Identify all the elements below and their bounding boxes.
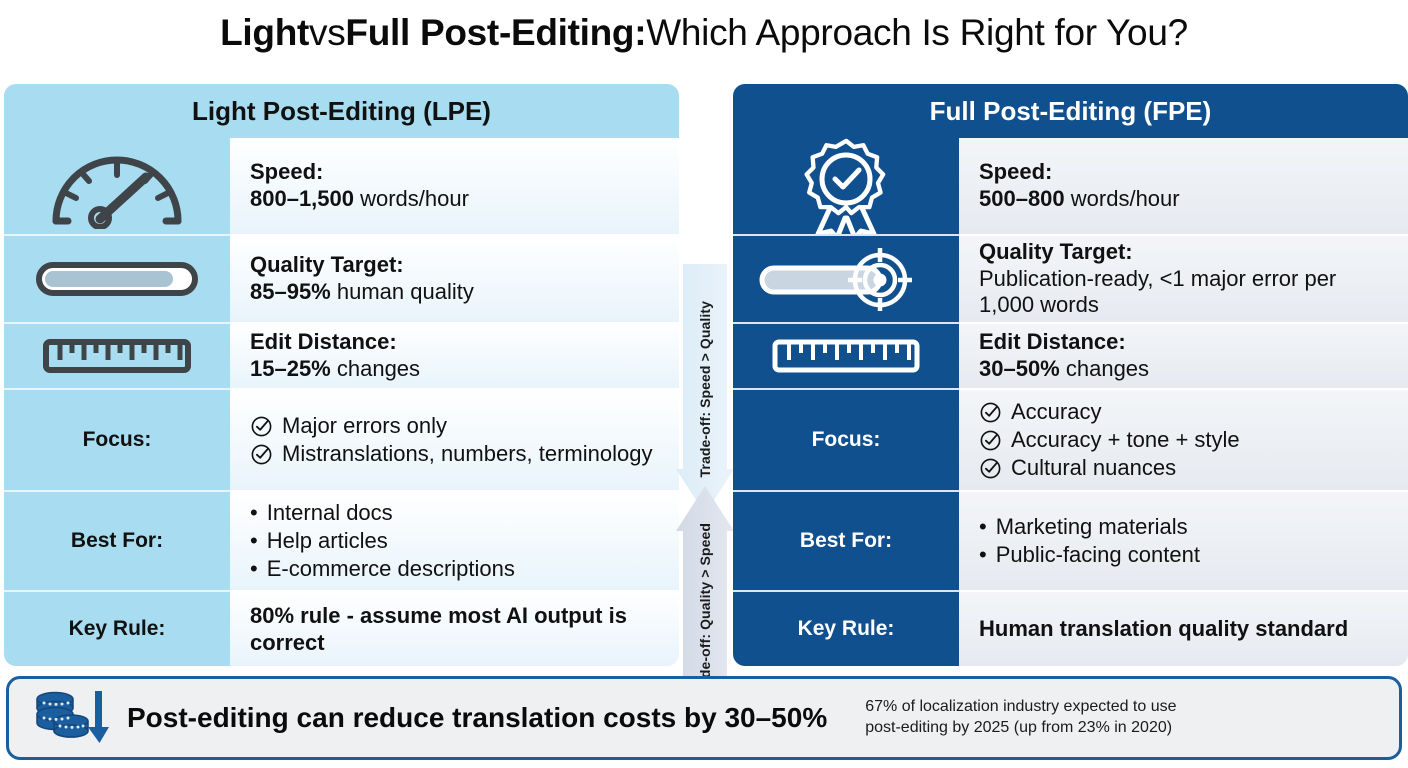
- speed-value: 800–1,500 words/hour: [250, 186, 665, 213]
- list-item-text: Accuracy + tone + style: [1011, 426, 1240, 454]
- check-circle-icon: [250, 443, 273, 466]
- list-item: Mistranslations, numbers, terminology: [250, 440, 665, 468]
- cell-speed-body: Speed: 800–1,500 words/hour: [230, 138, 679, 234]
- list-item: •Marketing materials: [979, 513, 1394, 541]
- quality-value: 85–95% human quality: [250, 279, 665, 306]
- edit-value: 30–50% changes: [979, 356, 1394, 383]
- list-item-text: Mistranslations, numbers, terminology: [282, 440, 652, 468]
- panel-right-header: Full Post-Editing (FPE): [733, 84, 1408, 138]
- quality-value-rest: Publication-ready, <1 major error per 1,…: [979, 266, 1336, 318]
- row-best-for: Best For: •Internal docs •Help articles …: [4, 490, 679, 590]
- best-for-list: •Marketing materials •Public-facing cont…: [979, 513, 1394, 569]
- key-rule-text: Human translation quality standard: [979, 615, 1394, 643]
- quality-value: Publication-ready, <1 major error per 1,…: [979, 266, 1394, 320]
- check-circle-icon: [979, 401, 1002, 424]
- cell-edit-body: Edit Distance: 30–50% changes: [959, 322, 1408, 388]
- tradeoff-arrow-speed-over-quality: Trade-off: Speed > Quality: [676, 264, 734, 514]
- edit-value-strong: 30–50%: [979, 356, 1060, 381]
- quality-value-strong: 85–95%: [250, 279, 331, 304]
- cell-best-for-body: •Internal docs •Help articles •E-commerc…: [230, 490, 679, 590]
- bullet-dot-icon: •: [250, 527, 258, 555]
- list-item: Cultural nuances: [979, 454, 1394, 482]
- cell-focus-body: Accuracy Accuracy + tone + style: [959, 388, 1408, 490]
- list-item: •Public-facing content: [979, 541, 1394, 569]
- cell-edit-body: Edit Distance: 15–25% changes: [230, 322, 679, 388]
- cell-quality-body: Quality Target: Publication-ready, <1 ma…: [959, 234, 1408, 322]
- list-item-text: Cultural nuances: [1011, 454, 1176, 482]
- list-item-text: Public-facing content: [996, 541, 1200, 569]
- list-item: Major errors only: [250, 412, 665, 440]
- cell-quality-body: Quality Target: 85–95% human quality: [230, 234, 679, 322]
- edit-key: Edit Distance:: [250, 329, 665, 356]
- best-for-label: Best For:: [4, 490, 230, 590]
- row-key-rule: Key Rule: 80% rule - assume most AI outp…: [4, 590, 679, 666]
- panel-light-post-editing: Light Post-Editing (LPE): [4, 84, 679, 666]
- quality-key: Quality Target:: [250, 252, 665, 279]
- focus-label: Focus:: [733, 388, 959, 490]
- list-item-text: Internal docs: [267, 499, 393, 527]
- speed-key: Speed:: [250, 159, 665, 186]
- row-quality-target: Quality Target: 85–95% human quality: [4, 234, 679, 322]
- list-item-text: Marketing materials: [996, 513, 1188, 541]
- focus-list: Accuracy Accuracy + tone + style: [979, 398, 1394, 482]
- list-item-text: Help articles: [267, 527, 388, 555]
- check-circle-icon: [250, 415, 273, 438]
- award-badge-icon: [733, 138, 959, 234]
- speed-value: 500–800 words/hour: [979, 186, 1394, 213]
- bottom-stat-banner: Post-editing can reduce translation cost…: [6, 676, 1402, 760]
- edit-value: 15–25% changes: [250, 356, 665, 383]
- quality-value-rest: human quality: [331, 279, 474, 304]
- key-rule-text: 80% rule - assume most AI output is corr…: [250, 602, 665, 657]
- check-circle-icon: [979, 457, 1002, 480]
- speed-value-strong: 500–800: [979, 186, 1065, 211]
- bullet-dot-icon: •: [979, 541, 987, 569]
- banner-main-stat: Post-editing can reduce translation cost…: [127, 702, 827, 734]
- list-item: Accuracy: [979, 398, 1394, 426]
- speed-value-rest: words/hour: [354, 186, 469, 211]
- ruler-icon: [4, 322, 230, 388]
- list-item: •E-commerce descriptions: [250, 555, 665, 583]
- comparison-area: Light Post-Editing (LPE): [0, 84, 1408, 668]
- progress-target-icon: [733, 234, 959, 322]
- row-edit-distance: Edit Distance: 30–50% changes: [733, 322, 1408, 388]
- edit-value-rest: changes: [1060, 356, 1149, 381]
- list-item: •Help articles: [250, 527, 665, 555]
- row-speed: Speed: 800–1,500 words/hour: [4, 138, 679, 234]
- row-focus: Focus: Accuracy Acc: [733, 388, 1408, 490]
- list-item-text: Accuracy: [1011, 398, 1101, 426]
- bullet-dot-icon: •: [250, 499, 258, 527]
- progress-bar-icon: [4, 234, 230, 322]
- list-item: •Internal docs: [250, 499, 665, 527]
- coins-down-arrow-icon: [31, 689, 109, 747]
- row-focus: Focus: Major errors only: [4, 388, 679, 490]
- banner-footnote: 67% of localization industry expected to…: [865, 697, 1381, 739]
- cell-focus-body: Major errors only Mistranslations, numbe…: [230, 388, 679, 490]
- row-key-rule: Key Rule: Human translation quality stan…: [733, 590, 1408, 666]
- page-title: Light vs Full Post-Editing: Which Approa…: [0, 0, 1408, 66]
- key-rule-label: Key Rule:: [733, 590, 959, 666]
- row-speed: Speed: 500–800 words/hour: [733, 138, 1408, 234]
- speedometer-icon: [4, 138, 230, 234]
- speed-key: Speed:: [979, 159, 1394, 186]
- tradeoff-top-label: Trade-off: Speed > Quality: [697, 301, 713, 477]
- list-item-text: E-commerce descriptions: [267, 555, 515, 583]
- row-best-for: Best For: •Marketing materials •Public-f…: [733, 490, 1408, 590]
- edit-value-strong: 15–25%: [250, 356, 331, 381]
- focus-label: Focus:: [4, 388, 230, 490]
- quality-key: Quality Target:: [979, 239, 1394, 266]
- list-item: Accuracy + tone + style: [979, 426, 1394, 454]
- banner-footnote-line1: 67% of localization industry expected to…: [865, 697, 1381, 718]
- edit-key: Edit Distance:: [979, 329, 1394, 356]
- speed-value-rest: words/hour: [1065, 186, 1180, 211]
- row-edit-distance: Edit Distance: 15–25% changes: [4, 322, 679, 388]
- focus-list: Major errors only Mistranslations, numbe…: [250, 412, 665, 468]
- key-rule-label: Key Rule:: [4, 590, 230, 666]
- cell-best-for-body: •Marketing materials •Public-facing cont…: [959, 490, 1408, 590]
- best-for-list: •Internal docs •Help articles •E-commerc…: [250, 499, 665, 583]
- list-item-text: Major errors only: [282, 412, 447, 440]
- panel-right-rows: Speed: 500–800 words/hour: [733, 138, 1408, 666]
- title-part-question: Which Approach Is Right for You?: [646, 12, 1188, 54]
- cell-key-rule-body: Human translation quality standard: [959, 590, 1408, 666]
- tradeoff-arrows: Trade-off: Speed > Quality Trade-off: Qu…: [676, 168, 734, 752]
- title-part-full: Full Post-Editing:: [345, 12, 646, 54]
- best-for-label: Best For:: [733, 490, 959, 590]
- cell-speed-body: Speed: 500–800 words/hour: [959, 138, 1408, 234]
- title-part-vs: vs: [309, 12, 345, 54]
- bullet-dot-icon: •: [250, 555, 258, 583]
- panel-full-post-editing: Full Post-Editing (FPE): [733, 84, 1408, 666]
- cell-key-rule-body: 80% rule - assume most AI output is corr…: [230, 590, 679, 666]
- row-quality-target: Quality Target: Publication-ready, <1 ma…: [733, 234, 1408, 322]
- bullet-dot-icon: •: [979, 513, 987, 541]
- panel-left-header: Light Post-Editing (LPE): [4, 84, 679, 138]
- ruler-icon: [733, 322, 959, 388]
- panel-left-rows: Speed: 800–1,500 words/hour Quality Targ…: [4, 138, 679, 666]
- check-circle-icon: [979, 429, 1002, 452]
- tradeoff-bottom-label: Trade-off: Quality > Speed: [697, 523, 713, 699]
- banner-footnote-line2: post-editing by 2025 (up from 23% in 202…: [865, 718, 1381, 739]
- title-part-light: Light: [220, 12, 309, 54]
- edit-value-rest: changes: [331, 356, 420, 381]
- speed-value-strong: 800–1,500: [250, 186, 354, 211]
